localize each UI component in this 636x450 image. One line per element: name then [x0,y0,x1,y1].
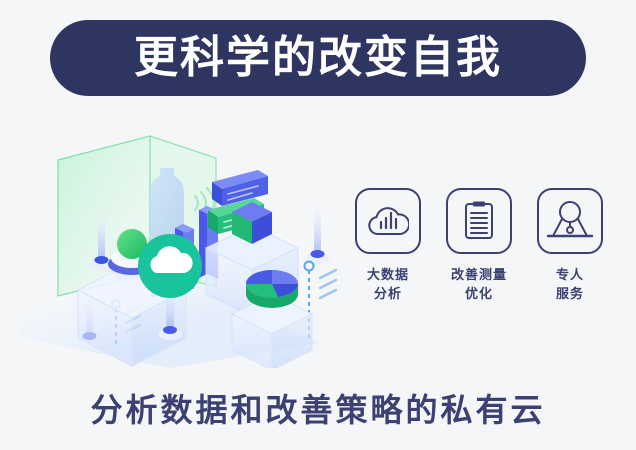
feature-icon-frame [355,188,421,254]
feature-label-measurement: 改善测量 优化 [451,266,507,304]
feature-label-line2: 优化 [451,285,507,304]
slider-pin-right [306,196,330,264]
clipboard-icon [461,200,497,242]
service-person-icon [546,199,594,243]
feature-label-line1: 专人 [556,266,584,285]
feature-label-line2: 分析 [367,285,409,304]
feature-item-measurement[interactable]: 改善测量 优化 [439,188,519,304]
feature-item-big-data[interactable]: 大数据 分析 [348,188,428,304]
hero-illustration [20,118,350,368]
feature-label-line1: 大数据 [367,266,409,285]
blue-info-card [212,170,268,206]
promo-banner-page: 更科学的改变自我 [0,0,636,450]
cloud-bar-chart-icon [367,204,409,238]
feature-label-line2: 服务 [556,285,584,304]
feature-item-service[interactable]: 专人 服务 [530,188,610,304]
pie-chart-3d [246,270,298,308]
feature-icon-frame [446,188,512,254]
feature-icon-frame [537,188,603,254]
feature-label-service: 专人 服务 [556,266,584,304]
tagline: 分析数据和改善策略的私有云 [0,385,636,431]
feature-list: 大数据 分析 [348,188,610,338]
feature-label-line1: 改善测量 [451,266,507,285]
title-banner: 更科学的改变自我 [50,20,586,96]
feature-label-big-data: 大数据 分析 [367,266,409,304]
page-title: 更科学的改变自我 [134,36,502,80]
